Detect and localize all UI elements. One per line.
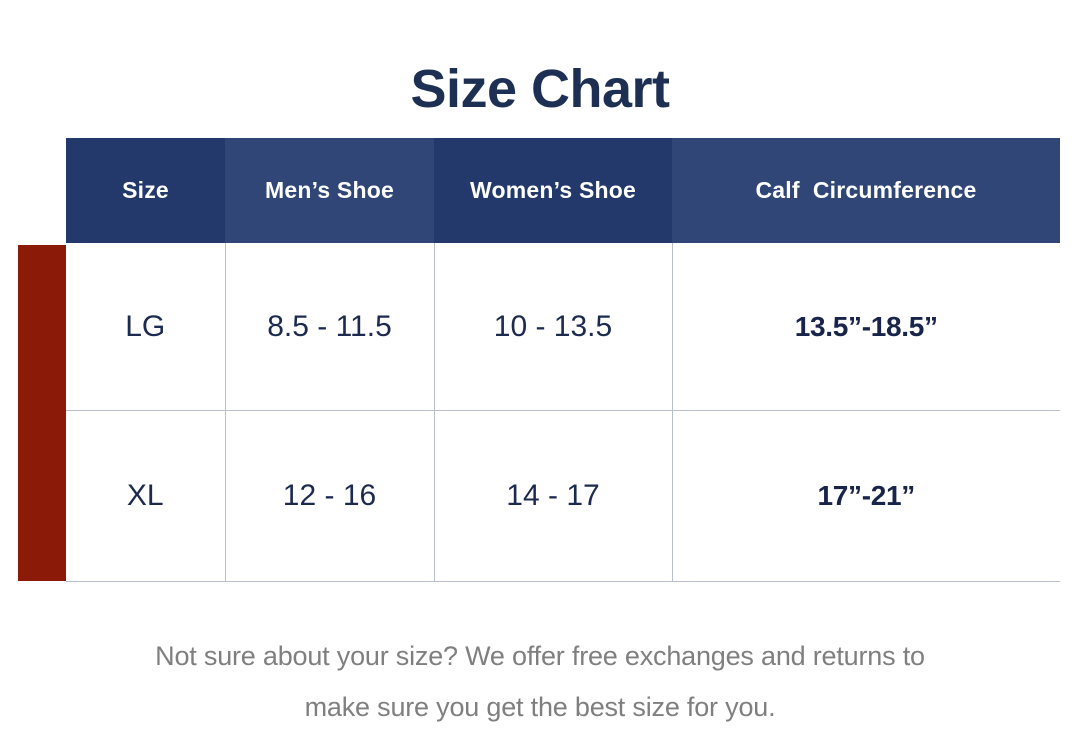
cell-size: XL bbox=[66, 411, 225, 582]
footer-note-line-2: make sure you get the best size for you. bbox=[40, 682, 1040, 733]
size-table: Size Men’s Shoe Women’s Shoe Calf Circum… bbox=[66, 138, 1060, 582]
column-header-womens-shoe: Women’s Shoe bbox=[434, 138, 672, 243]
cell-womens-shoe: 14 - 17 bbox=[434, 411, 672, 582]
page-title: Size Chart bbox=[0, 60, 1080, 119]
table-row: LG 8.5 - 11.5 10 - 13.5 13.5”-18.5” bbox=[66, 243, 1060, 411]
footer-note-line-1: Not sure about your size? We offer free … bbox=[40, 631, 1040, 682]
cell-calf-circumference: 17”-21” bbox=[672, 411, 1060, 582]
cell-calf-circumference: 13.5”-18.5” bbox=[672, 243, 1060, 411]
footer-note: Not sure about your size? We offer free … bbox=[0, 631, 1080, 733]
cell-mens-shoe: 12 - 16 bbox=[225, 411, 434, 582]
cell-size: LG bbox=[66, 243, 225, 411]
column-header-calf-circumference: Calf Circumference bbox=[672, 138, 1060, 243]
cell-mens-shoe: 8.5 - 11.5 bbox=[225, 243, 434, 411]
size-table-container: Size Men’s Shoe Women’s Shoe Calf Circum… bbox=[66, 138, 1060, 582]
table-row: XL 12 - 16 14 - 17 17”-21” bbox=[66, 411, 1060, 582]
column-header-size: Size bbox=[66, 138, 225, 243]
table-header-row: Size Men’s Shoe Women’s Shoe Calf Circum… bbox=[66, 138, 1060, 243]
column-header-mens-shoe: Men’s Shoe bbox=[225, 138, 434, 243]
red-accent-stripe bbox=[18, 245, 68, 581]
table-header: Size Men’s Shoe Women’s Shoe Calf Circum… bbox=[66, 138, 1060, 243]
size-chart-page: Size Chart Size Men’s Shoe Women’s Shoe … bbox=[0, 0, 1080, 720]
cell-womens-shoe: 10 - 13.5 bbox=[434, 243, 672, 411]
table-body: LG 8.5 - 11.5 10 - 13.5 13.5”-18.5” XL 1… bbox=[66, 243, 1060, 582]
